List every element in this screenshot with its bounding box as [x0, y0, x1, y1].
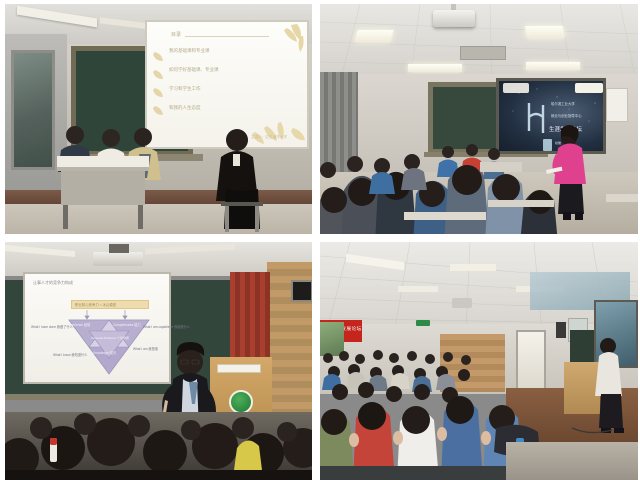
moderator — [216, 129, 260, 229]
panel-top-right[interactable]: 哈尔滨工业大学 就业与创业指导中心 生涯发展论坛 校徽 — [320, 4, 638, 234]
desk-row — [320, 466, 506, 480]
audience-group — [5, 242, 312, 480]
audience — [5, 413, 312, 480]
photo-collage: 目录 我的基础课和专业课 如何学好基础课、专业课 学习和学生工作 和我的人生态度… — [0, 0, 640, 480]
seminar-room-scene: 学院生涯发展论坛 — [320, 242, 638, 480]
competency-talk-scene: 让事人才的竞争力构成 职业核心竞争力 = 冰山模型 Experience 经验 — [5, 242, 312, 480]
people-group — [5, 4, 312, 234]
people-group — [320, 4, 638, 234]
floor — [506, 442, 638, 480]
panel-bottom-left[interactable]: 让事人才的竞争力构成 职业核心竞争力 = 冰山模型 Experience 经验 — [5, 242, 312, 480]
classroom-panel-scene: 目录 我的基础课和专业课 如何学好基础课、专业课 学习和学生工作 和我的人生态度… — [5, 4, 312, 234]
panel-bottom-right[interactable]: 学院生涯发展论坛 — [320, 242, 638, 480]
panel-top-left[interactable]: 目录 我的基础课和专业课 如何学好基础课、专业课 学习和学生工作 和我的人生态度… — [5, 4, 312, 234]
lecture-hall-scene: 哈尔滨工业大学 就业与创业指导中心 生涯发展论坛 校徽 — [320, 4, 638, 234]
audience-back-rows — [322, 350, 471, 403]
